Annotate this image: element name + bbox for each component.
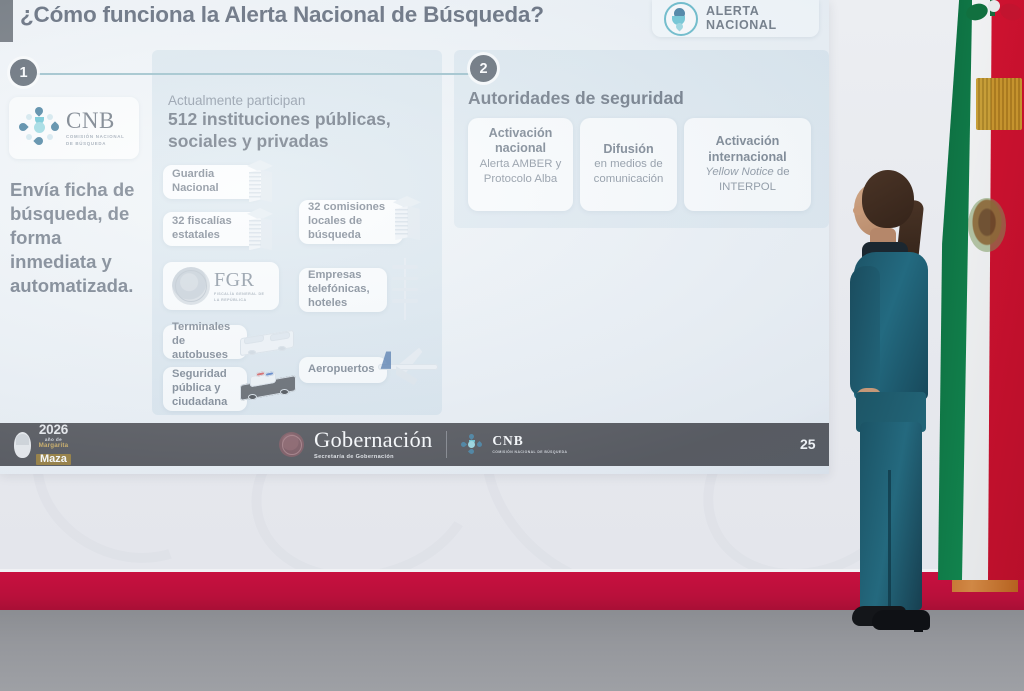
flag-gold-fringe [976,78,1022,130]
screen-left-shadow [0,0,13,42]
institutions-kicker: Actualmente participan [168,93,305,108]
authority-card-activacion-nacional: Activación nacional Alerta AMBER y Proto… [468,118,573,211]
antenna-icon [392,258,418,320]
patrol-car-icon [240,372,298,404]
slide-title: ¿Cómo funciona la Alerta Nacional de Bús… [20,2,544,28]
presenter-trousers [860,422,922,610]
chip-label: Empresas telefónicas, hoteles [308,269,378,311]
alerta-nacional-label: ALERTA NACIONAL [706,5,777,32]
alert-line-1: ALERTA [706,5,777,19]
chip-label: Aeropuertos [308,363,375,377]
chip-fgr: FGR FISCALÍA GENERAL DE LA REPÚBLICA [163,262,279,310]
footer-brand-group: Gobernación Secretaría de Gobernación CN… [279,425,567,464]
presenter-hair [862,170,914,228]
institutions-headline: 512 instituciones públicas, sociales y p… [168,108,436,152]
cnb-logo-name: CNB [66,109,131,132]
alerta-nacional-icon [664,2,698,36]
authority-card-title: Activación internacional [690,134,805,165]
alerta-nacional-badge: ALERTA NACIONAL [652,0,819,37]
alert-line-2: NACIONAL [706,19,777,33]
margarita-maza-portrait-icon [14,432,31,458]
chip-comisiones-locales: 32 comisiones locales de búsqueda [299,200,403,244]
chip-label: Seguridad pública y ciudadana [172,368,238,410]
airplane-icon [378,345,438,391]
authority-card-detail: Alerta AMBER y Protocolo Alba [474,157,567,187]
national-seal-icon [279,432,304,457]
footer-honoree-first: Margarita [36,443,71,449]
presenter-profile-nose [853,206,863,215]
cnb-mark-icon-footer [461,434,482,455]
authority-card-title: Activación nacional [474,126,567,157]
step-marker-2: 2 [470,55,497,82]
building-icon [247,208,273,252]
chip-label: Terminales de autobuses [172,321,238,363]
presenter [842,170,960,650]
yellow-notice-text: Yellow Notice [705,166,773,178]
cnb-logo-card: CNB COMISIÓN NACIONAL DE BÚSQUEDA [9,97,139,159]
fgr-label: FGR [214,269,270,292]
chip-aeropuertos: Aeropuertos [299,357,387,383]
authority-card-title: Difusión [586,142,671,157]
chip-label: 32 comisiones locales de búsqueda [308,201,394,243]
step-connector-line [36,73,486,75]
authority-card-activacion-internacional: Activación internacional Yellow Notice d… [684,118,811,211]
authority-card-detail: en medios de comunicación [586,157,671,187]
footer-ministry-sub: Secretaría de Gobernación [314,454,432,460]
screenshot-stage: ¿Cómo funciona la Alerta Nacional de Bús… [0,0,1024,691]
fgr-sublabel: FISCALÍA GENERAL DE LA REPÚBLICA [214,292,270,303]
building-icon [393,196,421,242]
fgr-seal-icon [172,267,210,305]
building-icon [247,160,273,204]
flag-ribbon-bow [966,0,1024,32]
projection-screen: ¿Cómo funciona la Alerta Nacional de Bús… [0,0,829,474]
cnb-mark-icon [17,106,61,150]
flag-coat-of-arms [968,198,1006,252]
presenter-trouser-seam [888,470,891,610]
authority-card-detail: Yellow Notice de INTERPOL [690,165,805,195]
footer-year-logo: 2026 año de Margarita Maza [14,425,71,464]
chip-label: 32 fiscalías estatales [172,215,253,243]
chip-empresas-telefonicas: Empresas telefónicas, hoteles [299,268,387,312]
left-statement: Envía ficha de búsqueda, de forma inmedi… [10,178,152,298]
bus-icon [240,330,296,358]
footer-ministry: Gobernación [314,429,432,452]
step-marker-1: 1 [10,59,37,86]
chip-seguridad-publica: Seguridad pública y ciudadana [163,367,247,411]
footer-honoree-last: Maza [36,454,71,465]
authority-card-difusion: Difusión en medios de comunicación [580,118,677,211]
footer-divider [446,431,447,458]
authorities-title: Autoridades de seguridad [468,88,684,109]
slide-page-number: 25 [800,436,816,452]
footer-agency-sub: COMISIÓN NACIONAL DE BÚSQUEDA [492,450,567,455]
presenter-arm [850,266,880,396]
presenter-shoe-heel [914,620,923,632]
cnb-logo-sub: COMISIÓN NACIONAL DE BÚSQUEDA [66,134,131,147]
footer-year: 2026 [36,423,71,437]
footer-agency: CNB [492,434,567,448]
chip-terminales-autobuses: Terminales de autobuses [163,325,247,359]
chip-label: Guardia Nacional [172,168,253,196]
